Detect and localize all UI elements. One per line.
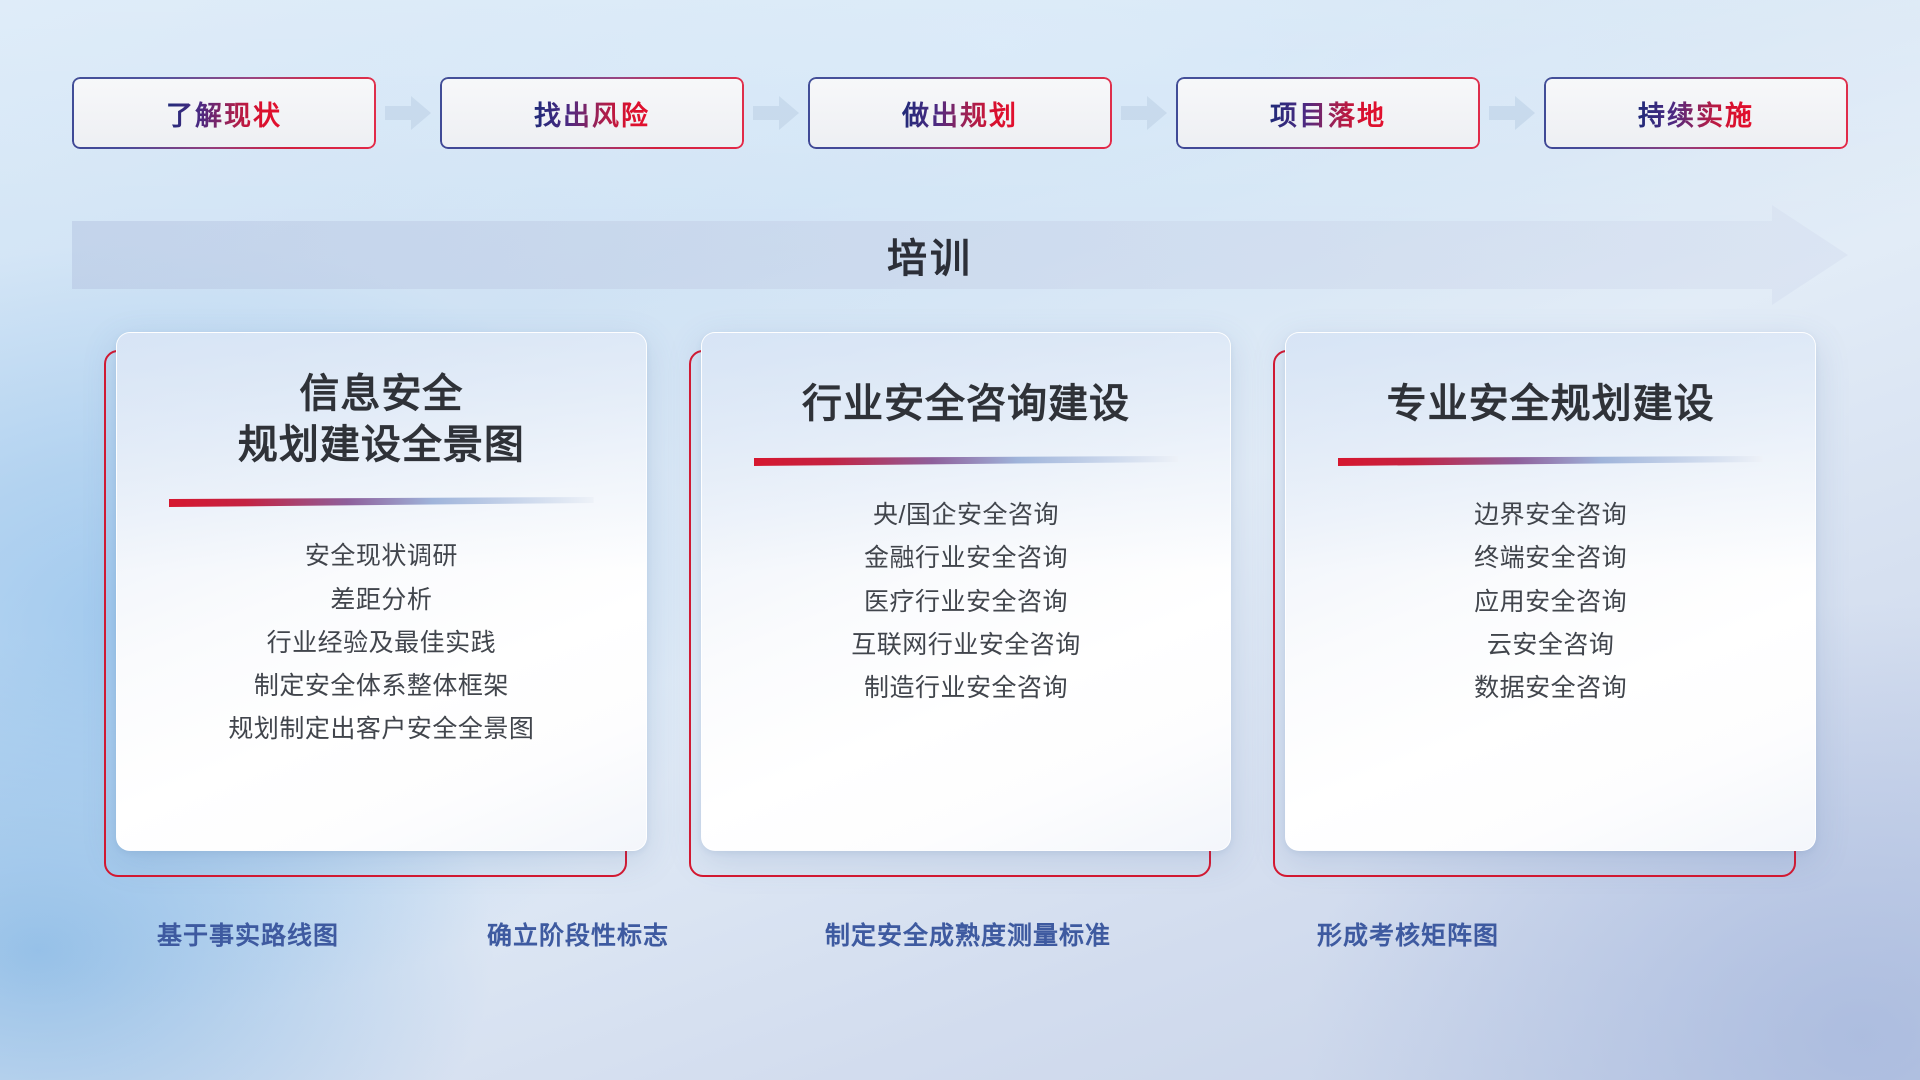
gradient-divider-icon: [754, 456, 1179, 468]
training-banner: 培训: [72, 205, 1848, 305]
gradient-divider-icon: [169, 497, 594, 509]
list-item: 央/国企安全咨询: [702, 494, 1231, 537]
step-arrow-icon-2: [1112, 77, 1176, 149]
card-divider-0: [169, 497, 594, 509]
banner-title: 培训: [72, 205, 1848, 305]
footer-label-0: 基于事实路线图: [157, 916, 339, 952]
step-box-0[interactable]: 了解现状: [72, 77, 376, 149]
footer-label-2: 制定安全成熟度测量标准: [825, 916, 1111, 952]
step-arrow-icon-0: [376, 77, 440, 149]
step-label-0: 了解现状: [166, 94, 282, 133]
list-item: 应用安全咨询: [1286, 581, 1815, 624]
list-item: 互联网行业安全咨询: [702, 624, 1231, 667]
step-label-3: 项目落地: [1270, 94, 1386, 133]
step-box-4[interactable]: 持续实施: [1544, 77, 1848, 149]
step-wrap-0: 了解现状: [72, 77, 376, 149]
list-item: 金融行业安全咨询: [702, 537, 1231, 580]
slide-canvas: 了解现状 找出风险 做出规划: [0, 0, 1920, 1080]
card-1[interactable]: 行业安全咨询建设: [701, 332, 1232, 851]
card-slot-2: 专业安全规划建设: [1273, 332, 1816, 877]
step-wrap-2: 做出规划: [808, 77, 1112, 149]
card-list-2: 边界安全咨询 终端安全咨询 应用安全咨询 云安全咨询 数据安全咨询: [1286, 494, 1815, 710]
step-wrap-4: 持续实施: [1544, 77, 1848, 149]
step-box-1[interactable]: 找出风险: [440, 77, 744, 149]
step-arrow-icon-1: [744, 77, 808, 149]
list-item: 医疗行业安全咨询: [702, 581, 1231, 624]
step-box-3[interactable]: 项目落地: [1176, 77, 1480, 149]
card-title-1: 行业安全咨询建设: [802, 379, 1130, 430]
step-label-1: 找出风险: [534, 94, 650, 133]
step-box-2[interactable]: 做出规划: [808, 77, 1112, 149]
footer-label-row: 基于事实路线图 确立阶段性标志 制定安全成熟度测量标准 形成考核矩阵图: [0, 916, 1920, 956]
process-step-row: 了解现状 找出风险 做出规划: [72, 77, 1848, 149]
list-item: 制造行业安全咨询: [702, 667, 1231, 710]
list-item: 数据安全咨询: [1286, 667, 1815, 710]
list-item: 终端安全咨询: [1286, 537, 1815, 580]
step-arrow-icon-3: [1480, 77, 1544, 149]
card-title-0: 信息安全 规划建设全景图: [238, 369, 525, 471]
step-label-2: 做出规划: [902, 94, 1018, 133]
card-list-1: 央/国企安全咨询 金融行业安全咨询 医疗行业安全咨询 互联网行业安全咨询 制造行…: [702, 494, 1231, 710]
card-title-2: 专业安全规划建设: [1387, 379, 1715, 430]
step-wrap-3: 项目落地: [1176, 77, 1480, 149]
card-row: 信息安全 规划建设全景图: [104, 332, 1816, 877]
gradient-divider-icon: [1338, 456, 1763, 468]
card-divider-2: [1338, 456, 1763, 468]
card-divider-1: [754, 456, 1179, 468]
list-item: 规划制定出客户安全全景图: [117, 708, 646, 751]
footer-label-1: 确立阶段性标志: [487, 916, 669, 952]
card-slot-0: 信息安全 规划建设全景图: [104, 332, 647, 877]
list-item: 边界安全咨询: [1286, 494, 1815, 537]
list-item: 安全现状调研: [117, 535, 646, 578]
card-list-0: 安全现状调研 差距分析 行业经验及最佳实践 制定安全体系整体框架 规划制定出客户…: [117, 535, 646, 751]
footer-label-3: 形成考核矩阵图: [1317, 916, 1499, 952]
list-item: 差距分析: [117, 579, 646, 622]
list-item: 制定安全体系整体框架: [117, 665, 646, 708]
list-item: 云安全咨询: [1286, 624, 1815, 667]
card-2[interactable]: 专业安全规划建设: [1285, 332, 1816, 851]
card-0[interactable]: 信息安全 规划建设全景图: [116, 332, 647, 851]
list-item: 行业经验及最佳实践: [117, 622, 646, 665]
step-wrap-1: 找出风险: [440, 77, 744, 149]
step-label-4: 持续实施: [1638, 94, 1754, 133]
card-slot-1: 行业安全咨询建设: [689, 332, 1232, 877]
